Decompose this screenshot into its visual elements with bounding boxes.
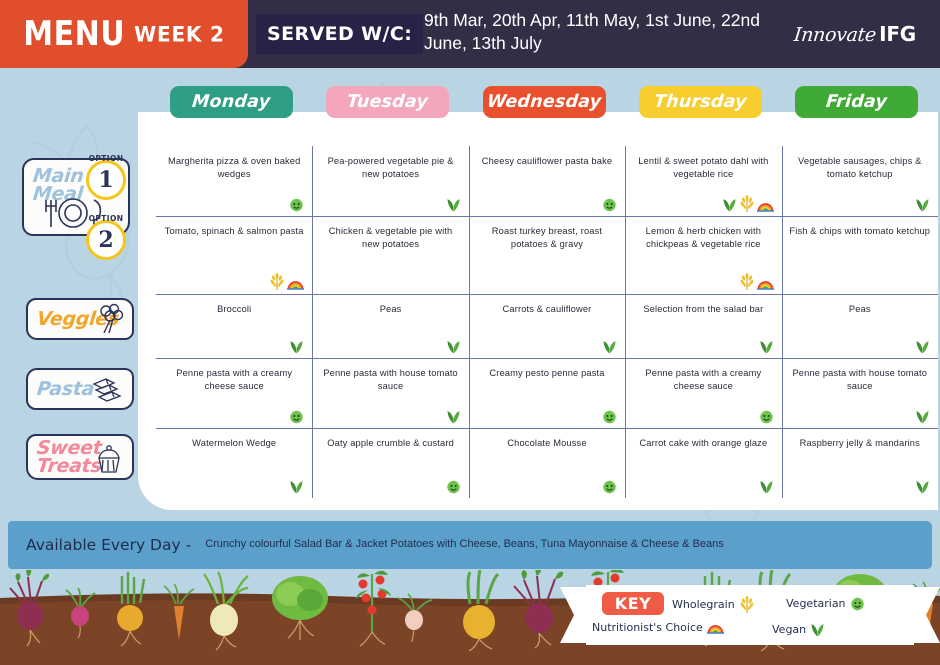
dietary-icon-group — [602, 407, 617, 424]
day-header-label: Wednesday — [486, 92, 602, 112]
vegan-icon — [446, 196, 461, 212]
menu-item-text: Carrots & cauliflower — [476, 303, 618, 316]
menu-row-veggies: BroccoliPeasCarrots & cauliflowerSelecti… — [156, 294, 938, 358]
option-2-word: OPTION — [89, 214, 124, 223]
menu-cell[interactable]: Carrot cake with orange glaze — [625, 428, 781, 498]
vegetarian-icon — [850, 596, 865, 611]
menu-item-text: Oaty apple crumble & custard — [319, 437, 461, 450]
nutritionists-choice-icon — [757, 199, 774, 212]
day-header-label: Friday — [825, 92, 888, 112]
dietary-icon-group — [602, 477, 617, 494]
option-1-badge: OPTION 1 — [86, 160, 126, 200]
wholegrain-icon — [739, 195, 755, 212]
menu-item-text: Chocolate Mousse — [476, 437, 618, 450]
menu-item-text: Penne pasta with house tomato sauce — [789, 367, 931, 393]
menu-cell[interactable]: Fish & chips with tomato ketchup — [782, 216, 938, 294]
dietary-icon-group — [759, 337, 774, 354]
dietary-icon-group — [602, 195, 617, 212]
dietary-icon-group — [446, 195, 461, 212]
logo-ifg-text: IFG — [879, 22, 916, 46]
option-1-number: 1 — [98, 169, 113, 191]
menu-cell[interactable]: Lemon & herb chicken with chickpeas & ve… — [625, 216, 781, 294]
menu-item-text: Penne pasta with house tomato sauce — [319, 367, 461, 393]
vegan-icon — [810, 621, 825, 637]
vegetarian-icon — [289, 197, 304, 212]
available-every-day-label: Available Every Day - — [26, 536, 191, 554]
menu-cell[interactable]: Vegetable sausages, chips & tomato ketch… — [782, 146, 938, 216]
broccoli-icon — [93, 303, 127, 335]
row-label-veggies: Veggles — [26, 298, 134, 340]
dietary-icon-group — [289, 337, 304, 354]
vegetarian-icon — [602, 479, 617, 494]
menu-cell[interactable]: Broccoli — [156, 294, 312, 358]
innovate-ifg-logo: Innovate IFG — [794, 22, 916, 46]
menu-week-tab: MENU WEEK 2 — [0, 0, 248, 68]
day-header-label: Monday — [191, 92, 271, 112]
vegan-icon — [915, 338, 930, 354]
menu-cell[interactable]: Tomato, spinach & salmon pasta — [156, 216, 312, 294]
menu-cell[interactable]: Pea-powered vegetable pie & new potatoes — [312, 146, 468, 216]
pasta-label: Pasta — [36, 380, 95, 398]
menu-cell[interactable]: Cheesy cauliflower pasta bake — [469, 146, 625, 216]
menu-item-text: Pea-powered vegetable pie & new potatoes — [319, 155, 461, 181]
cupcake-icon — [91, 440, 127, 476]
vegetarian-icon — [289, 409, 304, 424]
vegan-icon — [602, 338, 617, 354]
day-header-friday: Friday — [795, 86, 918, 118]
served-wc-label: SERVED W/C: — [267, 23, 412, 45]
key-item-vegan: Vegan — [772, 621, 825, 637]
menu-row-pasta: Penne pasta with a creamy cheese saucePe… — [156, 358, 938, 428]
key-item-vegetarian: Vegetarian — [786, 596, 865, 611]
week-label: WEEK 2 — [134, 21, 225, 47]
menu-cell[interactable]: Peas — [312, 294, 468, 358]
day-header-thursday: Thursday — [639, 86, 762, 118]
menu-cell[interactable]: Penne pasta with house tomato sauce — [782, 358, 938, 428]
menu-item-text: Margherita pizza & oven baked wedges — [163, 155, 305, 181]
key-item-nutritionists-choice: Nutritionist's Choice — [592, 621, 724, 634]
vegan-icon — [759, 478, 774, 494]
menu-item-text: Tomato, spinach & salmon pasta — [163, 225, 305, 238]
dietary-icon-group — [446, 477, 461, 494]
menu-item-text: Creamy pesto penne pasta — [476, 367, 618, 380]
option-1-word: OPTION — [89, 154, 124, 163]
menu-item-text: Carrot cake with orange glaze — [632, 437, 774, 450]
day-header-monday: Monday — [170, 86, 293, 118]
top-header-bar: MENU WEEK 2 SERVED W/C: 9th Mar, 20th Ap… — [0, 0, 940, 68]
menu-cell[interactable]: Penne pasta with a creamy cheese sauce — [625, 358, 781, 428]
dietary-icon-group — [915, 195, 930, 212]
menu-item-text: Fish & chips with tomato ketchup — [789, 225, 931, 238]
menu-item-text: Selection from the salad bar — [632, 303, 774, 316]
menu-grid: Margherita pizza & oven baked wedgesPea-… — [156, 146, 938, 498]
key-legend-banner: KEY Wholegrain Vegetarian Nutriti — [560, 585, 940, 647]
option-2-number: 2 — [98, 229, 113, 251]
key-vegetarian-label: Vegetarian — [786, 597, 846, 610]
dietary-icon-group — [759, 407, 774, 424]
wholegrain-icon — [269, 273, 285, 290]
menu-item-text: Chicken & vegetable pie with new potatoe… — [319, 225, 461, 251]
key-item-wholegrain: Wholegrain — [672, 596, 755, 613]
menu-cell[interactable]: Creamy pesto penne pasta — [469, 358, 625, 428]
menu-item-text: Peas — [319, 303, 461, 316]
vegan-icon — [759, 338, 774, 354]
menu-item-text: Penne pasta with a creamy cheese sauce — [163, 367, 305, 393]
dietary-icon-group — [289, 477, 304, 494]
menu-item-text: Lemon & herb chicken with chickpeas & ve… — [632, 225, 774, 251]
menu-item-text: Cheesy cauliflower pasta bake — [476, 155, 618, 168]
vegan-icon — [915, 478, 930, 494]
dietary-icon-group — [602, 337, 617, 354]
row-label-pasta: Pasta — [26, 368, 134, 410]
menu-cell[interactable]: Oaty apple crumble & custard — [312, 428, 468, 498]
served-wc-chip: SERVED W/C: — [256, 14, 423, 54]
menu-item-text: Peas — [789, 303, 931, 316]
menu-row-main-meal-option-1: Margherita pizza & oven baked wedgesPea-… — [156, 146, 938, 216]
wholegrain-icon — [739, 273, 755, 290]
menu-row-main-meal-option-2: Tomato, spinach & salmon pastaChicken & … — [156, 216, 938, 294]
menu-cell[interactable]: Peas — [782, 294, 938, 358]
logo-script-text: Innovate — [793, 24, 877, 46]
dietary-icon-group — [269, 273, 304, 290]
menu-item-text: Roast turkey breast, roast potatoes & gr… — [476, 225, 618, 251]
key-title: KEY — [615, 594, 651, 613]
vegetarian-icon — [602, 409, 617, 424]
key-title-chip: KEY — [602, 592, 664, 615]
menu-cell[interactable]: Penne pasta with house tomato sauce — [312, 358, 468, 428]
dietary-icon-group — [722, 195, 774, 212]
available-every-day-banner: Available Every Day - Crunchy colourful … — [8, 521, 932, 569]
menu-cell[interactable]: Roast turkey breast, roast potatoes & gr… — [469, 216, 625, 294]
menu-cell[interactable]: Chicken & vegetable pie with new potatoe… — [312, 216, 468, 294]
vegan-icon — [915, 196, 930, 212]
menu-row-sweet-treats: Watermelon WedgeOaty apple crumble & cus… — [156, 428, 938, 498]
menu-cell[interactable]: Carrots & cauliflower — [469, 294, 625, 358]
key-vegan-label: Vegan — [772, 623, 806, 636]
vegan-icon — [446, 408, 461, 424]
menu-item-text: Lentil & sweet potato dahl with vegetabl… — [632, 155, 774, 181]
dietary-icon-group — [739, 273, 774, 290]
day-header-row: MondayTuesdayWednesdayThursdayFriday — [153, 86, 933, 120]
dietary-icon-group — [446, 337, 461, 354]
dietary-icon-group — [915, 337, 930, 354]
dietary-icon-group — [446, 407, 461, 424]
wholegrain-icon — [739, 596, 755, 613]
nutritionists-choice-icon — [287, 277, 304, 290]
menu-item-text: Raspberry jelly & mandarins — [789, 437, 931, 450]
key-nutritionists-choice-label: Nutritionist's Choice — [592, 621, 703, 634]
menu-item-text: Vegetable sausages, chips & tomato ketch… — [789, 155, 931, 181]
vegan-icon — [915, 408, 930, 424]
menu-item-text: Watermelon Wedge — [163, 437, 305, 450]
dietary-icon-group — [289, 195, 304, 212]
menu-cell[interactable]: Chocolate Mousse — [469, 428, 625, 498]
menu-cell[interactable]: Raspberry jelly & mandarins — [782, 428, 938, 498]
vegetarian-icon — [602, 197, 617, 212]
dietary-icon-group — [289, 407, 304, 424]
day-header-tuesday: Tuesday — [326, 86, 449, 118]
menu-item-text: Broccoli — [163, 303, 305, 316]
vegetarian-icon — [759, 409, 774, 424]
key-wholegrain-label: Wholegrain — [672, 598, 735, 611]
penne-pasta-icon — [90, 376, 128, 404]
menu-item-text: Penne pasta with a creamy cheese sauce — [632, 367, 774, 393]
vegan-icon — [446, 338, 461, 354]
row-label-sweet-treats: Sweet Treats — [26, 434, 134, 480]
menu-title: MENU — [23, 14, 125, 53]
day-header-label: Tuesday — [346, 92, 429, 112]
menu-cell[interactable]: Watermelon Wedge — [156, 428, 312, 498]
served-dates-text: 9th Mar, 20th Apr, 11th May, 1st June, 2… — [424, 9, 764, 55]
available-every-day-text: Crunchy colourful Salad Bar & Jacket Pot… — [205, 537, 724, 553]
day-header-wednesday: Wednesday — [483, 86, 606, 118]
menu-cell[interactable]: Margherita pizza & oven baked wedges — [156, 146, 312, 216]
menu-cell[interactable]: Selection from the salad bar — [625, 294, 781, 358]
nutritionists-choice-icon — [707, 621, 724, 634]
nutritionists-choice-icon — [757, 277, 774, 290]
dietary-icon-group — [759, 477, 774, 494]
vegan-icon — [289, 478, 304, 494]
option-2-badge: OPTION 2 — [86, 220, 126, 260]
menu-cell[interactable]: Penne pasta with a creamy cheese sauce — [156, 358, 312, 428]
menu-cell[interactable]: Lentil & sweet potato dahl with vegetabl… — [625, 146, 781, 216]
dietary-icon-group — [915, 407, 930, 424]
dietary-icon-group — [915, 477, 930, 494]
vegan-icon — [722, 196, 737, 212]
vegan-icon — [289, 338, 304, 354]
day-header-label: Thursday — [653, 92, 747, 112]
vegetarian-icon — [446, 479, 461, 494]
